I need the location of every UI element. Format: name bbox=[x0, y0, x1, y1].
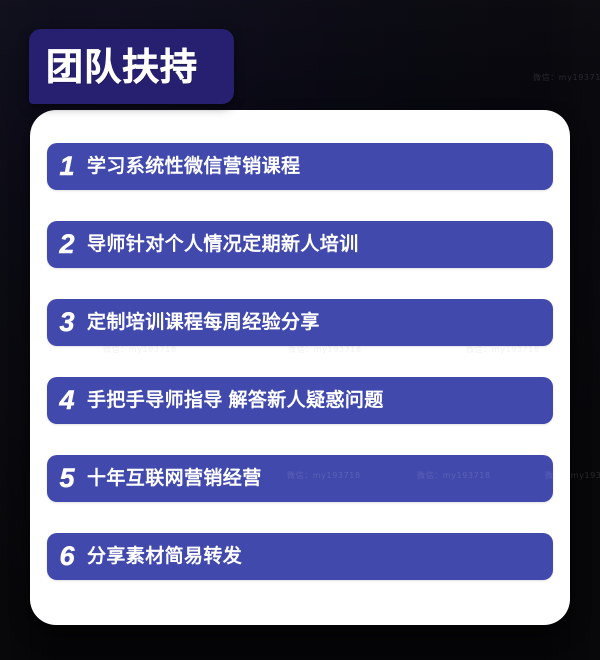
list-item-label: 分享素材简易转发 bbox=[87, 547, 553, 567]
list-item-number: 6 bbox=[47, 543, 87, 570]
watermark-text: 微信：my193718 bbox=[533, 72, 600, 83]
list-item-label: 学习系统性微信营销课程 bbox=[87, 157, 553, 177]
title-badge: 团队扶持 bbox=[29, 29, 234, 104]
list-item-label: 手把手导师指导 解答新人疑惑问题 bbox=[87, 391, 553, 411]
poster-root: 团队扶持 1学习系统性微信营销课程2导师针对个人情况定期新人培训3定制培训课程每… bbox=[0, 0, 600, 660]
list-item-label: 导师针对个人情况定期新人培训 bbox=[87, 235, 553, 255]
list-item-number: 2 bbox=[47, 231, 87, 258]
list-item-number: 4 bbox=[47, 387, 87, 414]
list-item[interactable]: 1学习系统性微信营销课程 bbox=[47, 143, 553, 190]
list-item[interactable]: 6分享素材简易转发 bbox=[47, 533, 553, 580]
list-item[interactable]: 2导师针对个人情况定期新人培训 bbox=[47, 221, 553, 268]
feature-list: 1学习系统性微信营销课程2导师针对个人情况定期新人培训3定制培训课程每周经验分享… bbox=[30, 110, 570, 580]
list-item-label: 十年互联网营销经营 bbox=[87, 469, 553, 489]
list-item[interactable]: 3定制培训课程每周经验分享 bbox=[47, 299, 553, 346]
page-title: 团队扶持 bbox=[46, 48, 198, 85]
list-item-number: 1 bbox=[47, 153, 87, 180]
list-item[interactable]: 5十年互联网营销经营 bbox=[47, 455, 553, 502]
list-item[interactable]: 4手把手导师指导 解答新人疑惑问题 bbox=[47, 377, 553, 424]
list-item-number: 3 bbox=[47, 309, 87, 336]
feature-card: 1学习系统性微信营销课程2导师针对个人情况定期新人培训3定制培训课程每周经验分享… bbox=[30, 110, 570, 625]
list-item-number: 5 bbox=[47, 465, 87, 492]
list-item-label: 定制培训课程每周经验分享 bbox=[87, 313, 553, 333]
